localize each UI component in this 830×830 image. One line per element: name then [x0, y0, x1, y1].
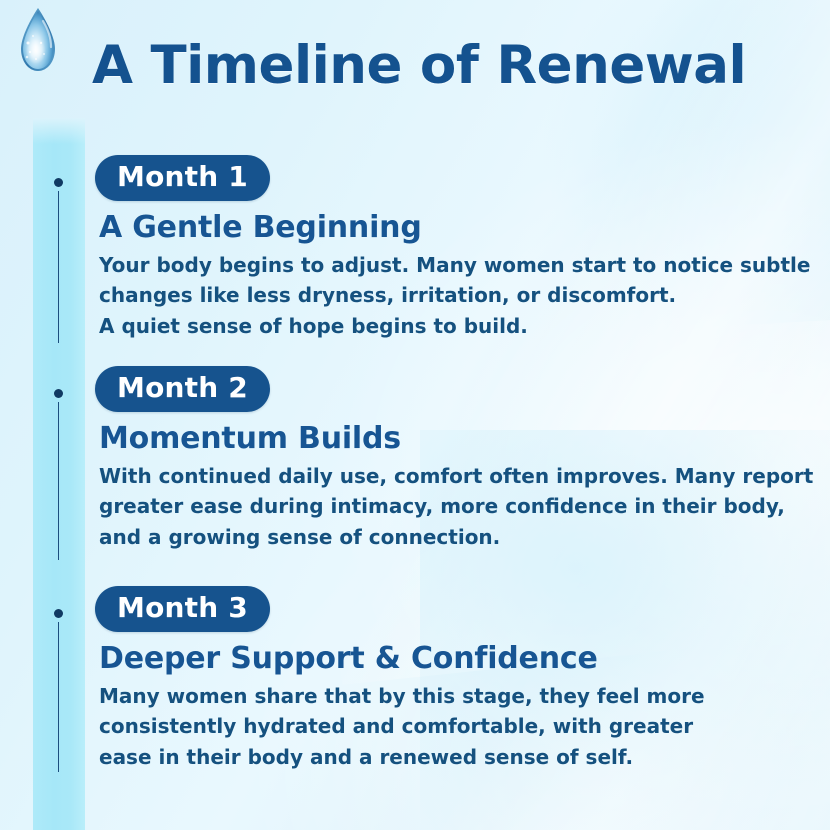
- timeline-connector-line: [58, 191, 59, 343]
- entry-heading: A Gentle Beginning: [99, 211, 795, 245]
- month-badge[interactable]: Month 3: [95, 586, 270, 632]
- entry-heading: Deeper Support & Confidence: [99, 642, 795, 676]
- entry-text: Many women share that by this stage, the…: [99, 681, 795, 772]
- entry-text-line: A quiet sense of hope begins to build.: [99, 311, 795, 341]
- timeline-list: Month 1 A Gentle Beginning Your body beg…: [0, 0, 830, 830]
- month-badge[interactable]: Month 2: [95, 366, 270, 412]
- entry-text-line: and a growing sense of connection.: [99, 522, 795, 552]
- timeline-entry-body: Month 1 A Gentle Beginning Your body beg…: [95, 155, 795, 341]
- entry-text-line: Many women share that by this stage, the…: [99, 681, 795, 711]
- entry-text-line: consistently hydrated and comfortable, w…: [99, 711, 795, 741]
- entry-text: Your body begins to adjust. Many women s…: [99, 250, 795, 341]
- timeline-marker-dot: [54, 389, 63, 398]
- timeline-entry-body: Month 3 Deeper Support & Confidence Many…: [95, 586, 795, 772]
- entry-text: With continued daily use, comfort often …: [99, 461, 795, 552]
- month-badge[interactable]: Month 1: [95, 155, 270, 201]
- timeline-infographic: A Timeline of Renewal Month 1 A Gentle B…: [0, 0, 830, 830]
- entry-text-line: changes like less dryness, irritation, o…: [99, 280, 795, 310]
- timeline-connector-line: [58, 402, 59, 560]
- entry-text-line: With continued daily use, comfort often …: [99, 461, 795, 491]
- timeline-marker-dot: [54, 609, 63, 618]
- entry-text-line: ease in their body and a renewed sense o…: [99, 742, 795, 772]
- entry-text-line: greater ease during intimacy, more confi…: [99, 491, 795, 521]
- timeline-marker-dot: [54, 178, 63, 187]
- timeline-connector-line: [58, 622, 59, 772]
- entry-heading: Momentum Builds: [99, 422, 795, 456]
- entry-text-line: Your body begins to adjust. Many women s…: [99, 250, 795, 280]
- timeline-entry-body: Month 2 Momentum Builds With continued d…: [95, 366, 795, 552]
